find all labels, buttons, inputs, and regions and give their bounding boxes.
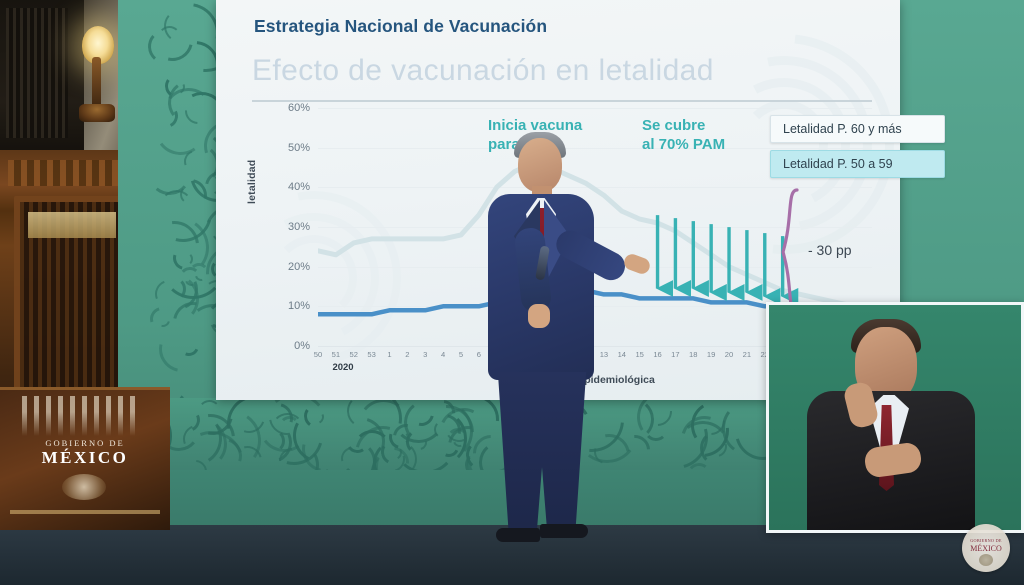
lamp-stem bbox=[92, 57, 101, 109]
podium: GOBIERNO DE MÉXICO bbox=[0, 387, 170, 530]
x-tick-51: 51 bbox=[332, 350, 340, 359]
legend-label-60-plus: Letalidad P. 60 y más bbox=[783, 122, 902, 136]
chart-legend: Letalidad P. 60 y más Letalidad P. 50 a … bbox=[770, 115, 945, 185]
door-grill bbox=[6, 8, 68, 138]
x-tick-18: 18 bbox=[689, 350, 697, 359]
podium-figures-engraving bbox=[22, 396, 142, 436]
legend-label-50-59: Letalidad P. 50 a 59 bbox=[783, 157, 893, 171]
x-tick-2: 2 bbox=[405, 350, 409, 359]
x-tick-5: 5 bbox=[459, 350, 463, 359]
podium-label-line1: GOBIERNO DE bbox=[0, 438, 170, 448]
x-tick-19: 19 bbox=[707, 350, 715, 359]
y-axis-label: letalidad bbox=[246, 160, 258, 204]
x-tick-50: 50 bbox=[314, 350, 322, 359]
y-tick-50: 50% bbox=[266, 142, 310, 154]
page-title: Efecto de vacunación en letalidad bbox=[252, 54, 714, 88]
lamp-base bbox=[79, 104, 115, 122]
legend-item-60-plus[interactable]: Letalidad P. 60 y más bbox=[770, 115, 945, 143]
delta-label: - 30 pp bbox=[808, 242, 852, 258]
x-tick-52: 52 bbox=[350, 350, 358, 359]
x-tick-1: 1 bbox=[387, 350, 391, 359]
annotation-cubre-line2: al 70% PAM bbox=[642, 136, 725, 153]
podium-label-line2: MÉXICO bbox=[0, 448, 170, 468]
x-axis-year-2020: 2020 bbox=[332, 362, 353, 373]
y-tick-20: 20% bbox=[266, 261, 310, 273]
presenter-shoe-left bbox=[496, 528, 540, 542]
podium-rule bbox=[10, 510, 160, 514]
slide-kicker: Estrategia Nacional de Vacunación bbox=[254, 16, 547, 37]
delta-brace-icon bbox=[779, 188, 801, 316]
y-tick-10: 10% bbox=[266, 300, 310, 312]
x-tick-17: 17 bbox=[671, 350, 679, 359]
x-tick-21: 21 bbox=[743, 350, 751, 359]
x-tick-16: 16 bbox=[653, 350, 661, 359]
national-seal-icon bbox=[62, 474, 106, 500]
x-tick-15: 15 bbox=[635, 350, 643, 359]
presenter-hand-left bbox=[528, 304, 550, 328]
presenter-legs bbox=[496, 372, 588, 536]
sign-language-interpreter-inset bbox=[766, 302, 1024, 533]
broadcast-frame: GOBIERNO DE MÉXICO Estrategia Nacional d… bbox=[0, 0, 1024, 585]
presenter-head bbox=[518, 138, 562, 192]
x-tick-14: 14 bbox=[618, 350, 626, 359]
y-tick-30: 30% bbox=[266, 221, 310, 233]
y-tick-0: 0% bbox=[266, 340, 310, 352]
x-tick-20: 20 bbox=[725, 350, 733, 359]
wood-panel-card bbox=[28, 212, 116, 238]
watermark-line2: MÉXICO bbox=[962, 544, 1010, 553]
title-divider bbox=[252, 100, 872, 102]
y-tick-40: 40% bbox=[266, 181, 310, 193]
gobierno-mexico-watermark: GOBIERNO DE MÉXICO bbox=[962, 524, 1010, 572]
x-tick-53: 53 bbox=[367, 350, 375, 359]
y-tick-60: 60% bbox=[266, 102, 310, 114]
dark-doorway bbox=[0, 0, 84, 170]
presenter-shoe-right bbox=[540, 524, 588, 538]
watermark-seal-icon bbox=[979, 554, 993, 566]
x-tick-3: 3 bbox=[423, 350, 427, 359]
watermark-line1: GOBIERNO DE bbox=[962, 538, 1010, 543]
annotation-se-cubre: Se cubre al 70% PAM bbox=[642, 116, 725, 154]
presenter bbox=[466, 128, 616, 548]
annotation-cubre-line1: Se cubre bbox=[642, 117, 705, 134]
legend-item-50-59[interactable]: Letalidad P. 50 a 59 bbox=[770, 150, 945, 178]
x-tick-4: 4 bbox=[441, 350, 445, 359]
